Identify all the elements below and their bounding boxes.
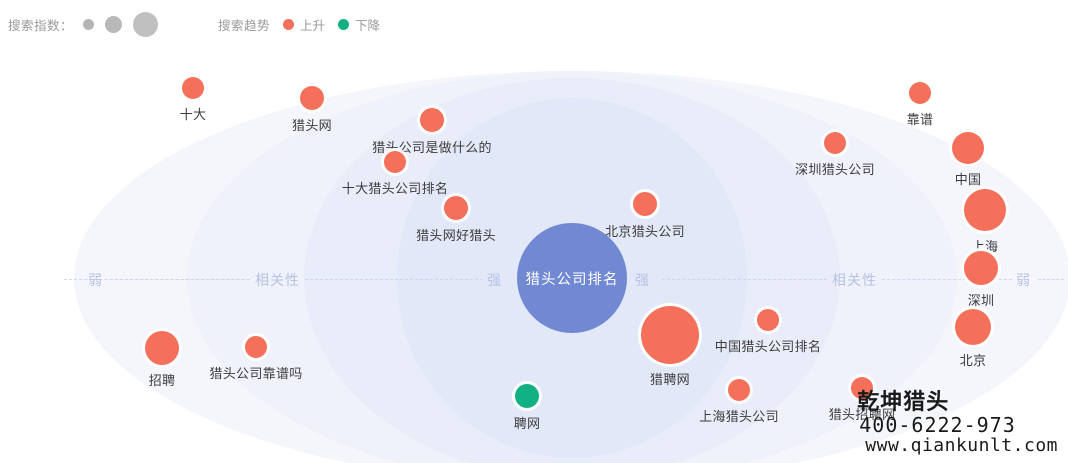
bubble-node-label: 深圳 [968,290,995,309]
bubble-node[interactable] [757,309,779,331]
axis-label-left-weak: 弱 [88,270,103,290]
bubble-node[interactable] [955,309,991,345]
axis-rail-left-1 [110,279,250,281]
bubble-node-label: 招聘 [149,370,176,389]
legend-size-scale [83,12,158,37]
bubble-node[interactable] [909,82,931,104]
axis-rail-right-1 [662,279,827,281]
center-node-label: 猎头公司排名 [526,268,619,289]
bubble-node-label: 猎头招聘网 [829,404,896,423]
legend-bar: 搜索指数： 搜索趋势 上升 下降 [0,0,1068,48]
axis-label-right-weak: 弱 [1016,270,1031,290]
bubble-node[interactable] [182,77,204,99]
legend-search-index-label: 搜索指数： [8,15,73,34]
legend-search-trend: 搜索趋势 上升 下降 [218,15,380,34]
trend-down-dot-icon [338,19,349,30]
bubble-node-label: 北京猎头公司 [605,221,685,240]
bubble-node[interactable] [964,189,1006,231]
bubble-node-label: 北京 [960,350,987,369]
bubble-node[interactable] [952,132,984,164]
legend-size-dot-large [133,12,158,37]
legend-trend-down-label: 下降 [355,15,380,34]
bubble-node-label: 靠谱 [907,109,934,128]
bubble-node[interactable] [384,151,406,173]
bubble-node-label: 中国 [955,169,982,188]
bubble-node[interactable] [964,251,998,285]
bubble-node[interactable] [300,86,324,110]
axis-label-left-strong: 强 [487,270,502,290]
bubble-node-label: 聘网 [514,413,541,432]
bubble-node[interactable] [444,196,468,220]
bubble-node[interactable] [515,384,539,408]
legend-search-index: 搜索指数： [0,12,158,37]
bubble-node[interactable] [728,379,750,401]
bubble-node-label: 猎头网 [292,115,332,134]
bubble-node-label: 猎聘网 [650,369,690,388]
legend-trend-down[interactable]: 下降 [338,15,380,34]
legend-size-dot-small [83,19,94,30]
bubble-node-label: 十大猎头公司排名 [342,178,448,197]
bubble-node-label: 十大 [180,104,207,123]
axis-rail-right-outer [1038,279,1064,281]
legend-search-trend-label: 搜索趋势 [218,15,270,34]
bubble-node[interactable] [641,306,699,364]
bubble-node[interactable] [245,336,267,358]
bubble-node-label: 上海猎头公司 [699,406,779,425]
bubble-node[interactable] [851,377,873,399]
bubble-node-label: 深圳猎头公司 [795,159,875,178]
trend-up-dot-icon [283,19,294,30]
bubble-node[interactable] [420,108,444,132]
bubble-node-label: 猎头网好猎头 [416,225,496,244]
bubble-node[interactable] [824,132,846,154]
bubble-node-label: 猎头公司靠谱吗 [209,363,302,382]
legend-trend-up[interactable]: 上升 [283,15,325,34]
axis-label-right-strong: 强 [635,270,650,290]
axis-rail-left-2 [305,279,483,281]
legend-size-dot-medium [105,16,122,33]
relevance-bubble-chart: 弱 相关性 强 强 相关性 弱 猎头公司排名十大猎头网猎头公司是做什么的十大猎头… [0,48,1068,463]
bubble-node-label: 中国猎头公司排名 [715,336,821,355]
axis-label-right-relevance: 相关性 [832,270,877,290]
bubble-node[interactable] [145,331,179,365]
legend-trend-up-label: 上升 [300,15,325,34]
axis-label-left-relevance: 相关性 [255,270,300,290]
bubble-node[interactable] [633,192,657,216]
